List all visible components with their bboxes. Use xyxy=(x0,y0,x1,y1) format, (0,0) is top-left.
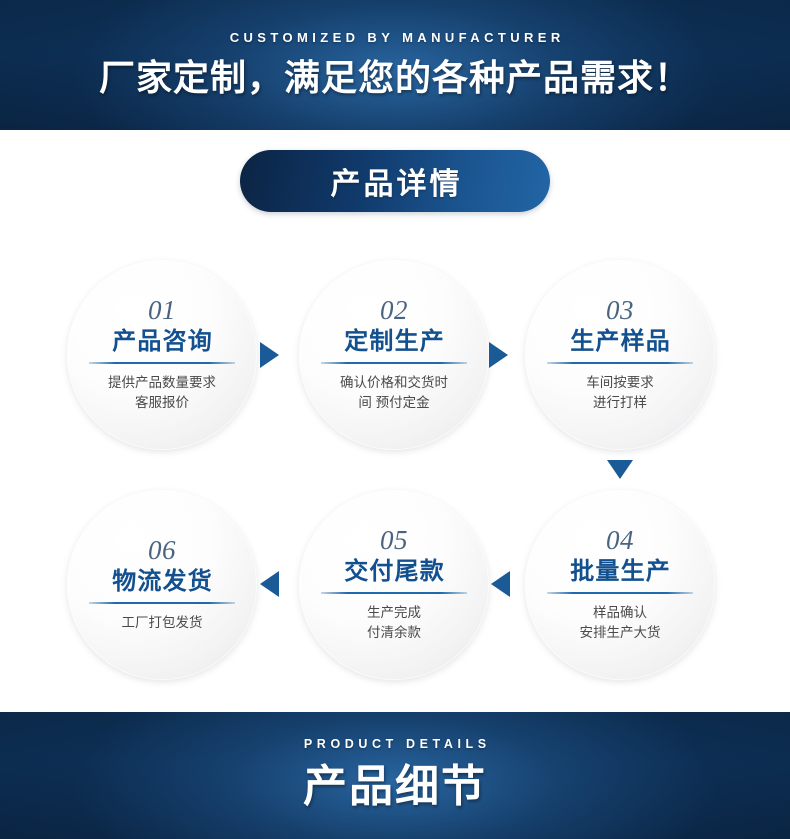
header-eyebrow: CUSTOMIZED BY MANUFACTURER xyxy=(225,31,564,44)
step-description-line1: 生产完成 xyxy=(367,603,421,623)
step-description-line2: 间 预付定金 xyxy=(358,393,429,413)
step-title: 生产样品 xyxy=(569,329,671,354)
step-divider xyxy=(547,592,693,594)
step-number: 01 xyxy=(148,297,176,324)
step-card-02: 02 定制生产 确认价格和交货时 间 预付定金 xyxy=(299,260,489,450)
step-description-line1: 确认价格和交货时 xyxy=(340,373,448,393)
step-description-line1: 车间按要求 xyxy=(586,373,654,393)
step-divider xyxy=(321,362,467,364)
step-title: 交付尾款 xyxy=(343,559,445,584)
arrow-left-icon-04-to-05 xyxy=(491,571,510,597)
section-title-label: 产品详情 xyxy=(328,159,463,203)
step-card-05: 05 交付尾款 生产完成 付清余款 xyxy=(299,490,489,680)
step-title: 定制生产 xyxy=(343,329,445,354)
step-description-line1: 提供产品数量要求 xyxy=(108,373,216,393)
step-divider xyxy=(321,592,467,594)
step-number: 05 xyxy=(380,527,408,554)
step-description-line1: 工厂打包发货 xyxy=(122,613,203,633)
step-card-03: 03 生产样品 车间按要求 进行打样 xyxy=(525,260,715,450)
header-banner-content: CUSTOMIZED BY MANUFACTURER 厂家定制，满足您的各种产品… xyxy=(0,0,790,130)
footer-banner-content: PRODUCT DETAILS 产品细节 xyxy=(0,712,790,839)
footer-eyebrow: PRODUCT DETAILS xyxy=(299,738,490,751)
step-divider xyxy=(547,362,693,364)
footer-banner: PRODUCT DETAILS 产品细节 xyxy=(0,712,790,839)
arrow-right-icon-01-to-02 xyxy=(260,342,279,368)
step-number: 02 xyxy=(380,297,408,324)
step-title: 物流发货 xyxy=(111,569,213,594)
step-card-01: 01 产品咨询 提供产品数量要求 客服报价 xyxy=(67,260,257,450)
step-number: 03 xyxy=(606,297,634,324)
step-title: 批量生产 xyxy=(569,559,671,584)
process-step-grid: 01 产品咨询 提供产品数量要求 客服报价 02 定制生产 确认价格和交货时 间… xyxy=(0,255,790,695)
step-description-line2: 客服报价 xyxy=(135,393,189,413)
product-details-page: CUSTOMIZED BY MANUFACTURER 厂家定制，满足您的各种产品… xyxy=(0,0,790,839)
header-title: 厂家定制，满足您的各种产品需求！ xyxy=(99,57,691,99)
arrow-down-icon-03-to-04 xyxy=(607,460,633,479)
step-card-04: 04 批量生产 样品确认 安排生产大货 xyxy=(525,490,715,680)
step-divider xyxy=(89,602,235,604)
step-number: 04 xyxy=(606,527,634,554)
section-title-wrap: 产品详情 xyxy=(0,150,790,212)
arrow-right-icon-02-to-03 xyxy=(489,342,508,368)
step-card-06: 06 物流发货 工厂打包发货 xyxy=(67,490,257,680)
header-banner: CUSTOMIZED BY MANUFACTURER 厂家定制，满足您的各种产品… xyxy=(0,0,790,130)
step-description-line2: 安排生产大货 xyxy=(580,623,661,643)
step-description-line2: 付清余款 xyxy=(367,623,421,643)
step-divider xyxy=(89,362,235,364)
step-description-line2: 进行打样 xyxy=(593,393,647,413)
step-title: 产品咨询 xyxy=(111,329,213,354)
section-title-pill: 产品详情 xyxy=(240,150,550,212)
step-description-line1: 样品确认 xyxy=(593,603,647,623)
step-number: 06 xyxy=(148,537,176,564)
footer-title: 产品细节 xyxy=(303,761,487,813)
arrow-left-icon-05-to-06 xyxy=(260,571,279,597)
